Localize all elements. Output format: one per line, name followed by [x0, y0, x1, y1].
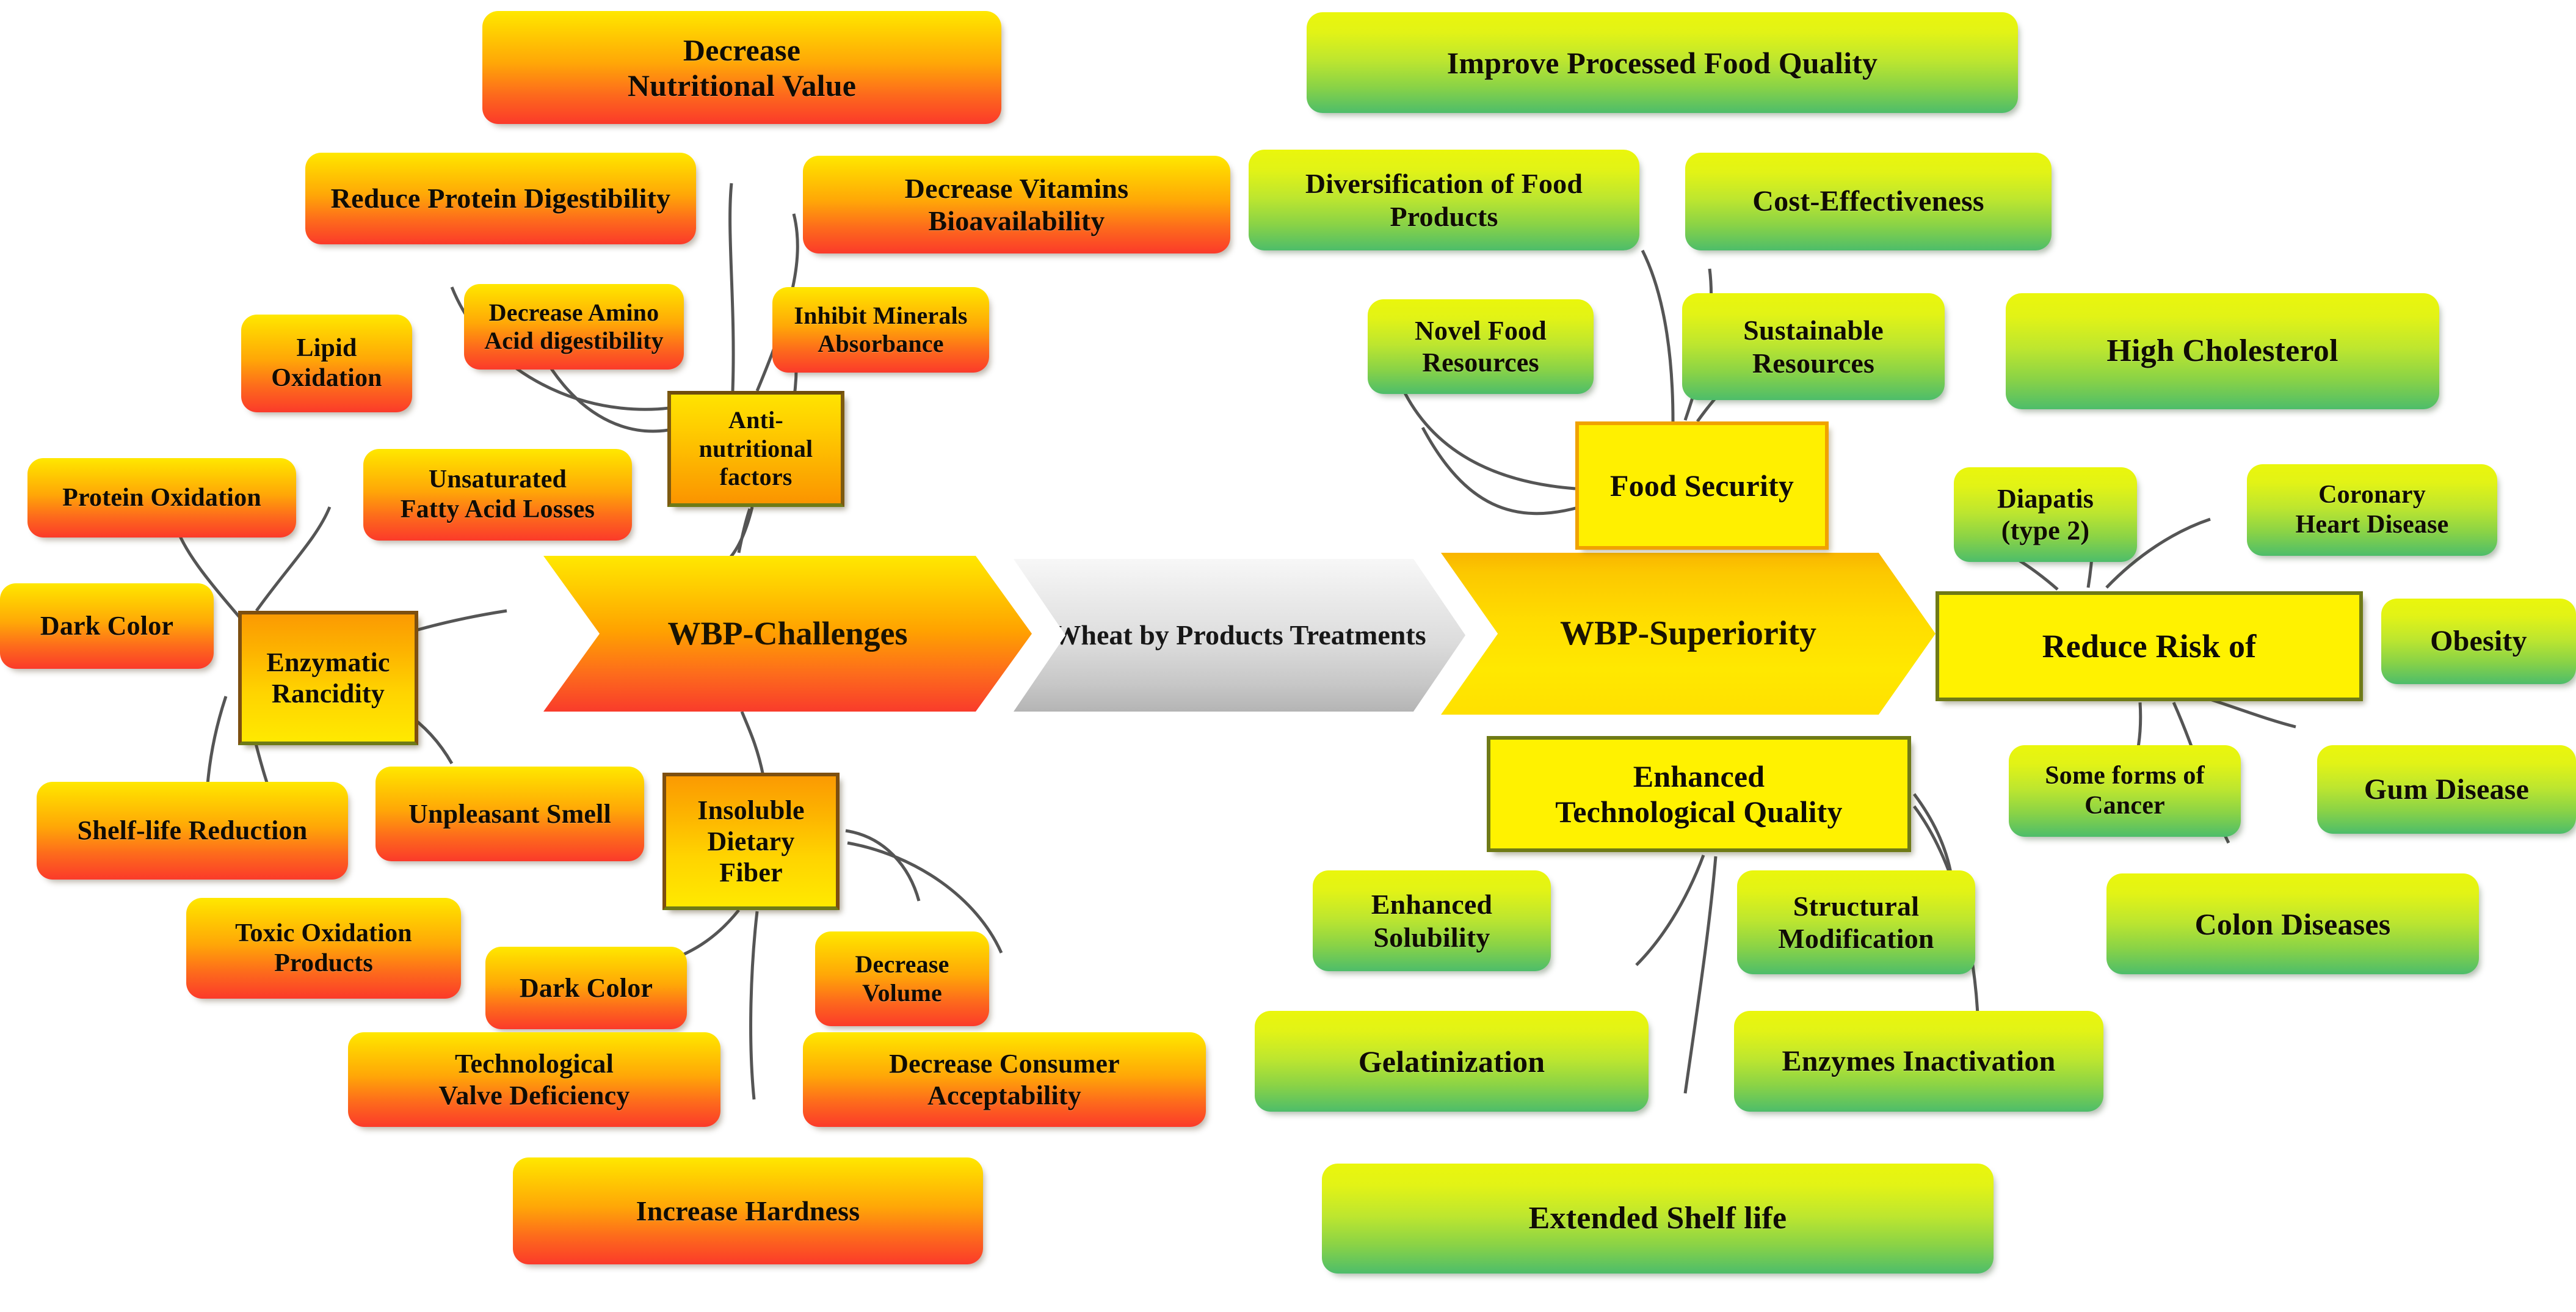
diagram-canvas: DecreaseNutritional Value Reduce Protein… [0, 0, 2576, 1312]
node-label: Decrease ConsumerAcceptability [811, 1048, 1197, 1110]
node-label: Dark Color [494, 972, 678, 1004]
node-label: Decrease VitaminsBioavailability [811, 172, 1222, 238]
node-label: DecreaseVolume [824, 950, 981, 1007]
hub-anti-nutritional-factors[interactable]: Anti-nutritionalfactors [667, 391, 844, 507]
node-label: Extended Shelf life [1330, 1200, 1985, 1237]
node-novel-food-resources[interactable]: Novel FoodResources [1368, 299, 1594, 394]
node-label: LipidOxidation [250, 333, 404, 393]
hub-label: Food Security [1587, 468, 1816, 503]
node-label: Some forms ofCancer [2017, 761, 2232, 820]
hub-label: Reduce Risk of [1948, 627, 2351, 666]
hub-reduce-risk-of[interactable]: Reduce Risk of [1936, 591, 2363, 701]
node-label: DecreaseNutritional Value [491, 32, 993, 103]
node-label: Diversification of FoodProducts [1257, 167, 1631, 233]
stage-label: WBP-Superiority [1441, 613, 1936, 654]
node-decrease-amino-acid-digestibility[interactable]: Decrease AminoAcid digestibility [464, 284, 684, 370]
node-label: Novel FoodResources [1376, 315, 1585, 377]
node-protein-oxidation[interactable]: Protein Oxidation [27, 458, 296, 538]
node-toxic-oxidation-products[interactable]: Toxic OxidationProducts [186, 898, 461, 999]
node-increase-hardness[interactable]: Increase Hardness [513, 1157, 983, 1264]
hub-enzymatic-rancidity[interactable]: EnzymaticRancidity [238, 611, 418, 745]
node-gum-disease[interactable]: Gum Disease [2317, 745, 2576, 834]
node-label: Gum Disease [2326, 773, 2567, 807]
node-technological-valve-deficiency[interactable]: TechnologicalValve Deficiency [348, 1032, 720, 1127]
node-diapatis-type-2[interactable]: Diapatis(type 2) [1954, 467, 2137, 562]
node-decrease-nutritional-value[interactable]: DecreaseNutritional Value [482, 11, 1001, 124]
node-label: Increase Hardness [521, 1195, 974, 1227]
node-some-forms-of-cancer[interactable]: Some forms ofCancer [2009, 745, 2241, 837]
hub-label: EnzymaticRancidity [250, 647, 406, 709]
node-enhanced-solubility[interactable]: EnhancedSolubility [1313, 870, 1551, 971]
node-decrease-vitamins-bioavailability[interactable]: Decrease VitaminsBioavailability [803, 156, 1230, 253]
node-label: Reduce Protein Digestibility [314, 182, 688, 214]
node-enzymes-inactivation[interactable]: Enzymes Inactivation [1734, 1011, 2103, 1112]
node-dark-color-left[interactable]: Dark Color [0, 583, 214, 669]
node-extended-shelf-life[interactable]: Extended Shelf life [1322, 1164, 1994, 1274]
node-label: Obesity [2390, 624, 2567, 658]
node-label: UnsaturatedFatty Acid Losses [372, 465, 623, 524]
node-label: TechnologicalValve Deficiency [357, 1048, 712, 1110]
node-decrease-consumer-acceptability[interactable]: Decrease ConsumerAcceptability [803, 1032, 1206, 1127]
node-inhibit-minerals-absorbance[interactable]: Inhibit MineralsAbsorbance [772, 287, 989, 373]
node-label: Enzymes Inactivation [1743, 1044, 2095, 1079]
node-label: Toxic OxidationProducts [195, 919, 452, 978]
node-dark-color-fiber[interactable]: Dark Color [485, 947, 687, 1029]
stage-wbp-superiority[interactable]: WBP-Superiority [1441, 553, 1936, 715]
node-label: Inhibit MineralsAbsorbance [781, 302, 981, 359]
node-structural-modification[interactable]: StructuralModification [1737, 870, 1975, 974]
node-coronary-heart-disease[interactable]: CoronaryHeart Disease [2247, 464, 2497, 556]
hub-insoluble-dietary-fiber[interactable]: InsolubleDietaryFiber [662, 773, 840, 910]
node-label: SustainableResources [1691, 314, 1936, 379]
node-label: CoronaryHeart Disease [2255, 480, 2489, 539]
node-label: Cost-Effectiveness [1694, 184, 2043, 219]
stage-wbp-challenges[interactable]: WBP-Challenges [543, 556, 1032, 712]
node-label: EnhancedSolubility [1321, 888, 1542, 953]
node-improve-processed-food-quality[interactable]: Improve Processed Food Quality [1307, 12, 2018, 113]
node-unsaturated-fatty-acid-losses[interactable]: UnsaturatedFatty Acid Losses [363, 449, 632, 541]
node-lipid-oxidation[interactable]: LipidOxidation [241, 315, 412, 412]
node-high-cholesterol[interactable]: High Cholesterol [2006, 293, 2439, 409]
hub-label: InsolubleDietaryFiber [675, 795, 827, 888]
node-label: Shelf-life Reduction [45, 815, 339, 846]
node-gelatinization[interactable]: Gelatinization [1255, 1011, 1649, 1112]
node-label: High Cholesterol [2014, 333, 2431, 370]
hub-enhanced-technological-quality[interactable]: EnhancedTechnological Quality [1487, 736, 1911, 852]
node-diversification-of-food-products[interactable]: Diversification of FoodProducts [1249, 150, 1639, 250]
node-label: Improve Processed Food Quality [1315, 45, 2009, 81]
hub-label: EnhancedTechnological Quality [1499, 759, 1899, 829]
node-label: Diapatis(type 2) [1962, 483, 2128, 545]
node-obesity[interactable]: Obesity [2381, 599, 2576, 684]
node-label: Gelatinization [1263, 1044, 1640, 1079]
node-sustainable-resources[interactable]: SustainableResources [1682, 293, 1945, 400]
node-colon-diseases[interactable]: Colon Diseases [2106, 873, 2479, 974]
node-decrease-volume[interactable]: DecreaseVolume [815, 931, 989, 1026]
node-label: Dark Color [9, 610, 205, 641]
node-reduce-protein-digestibility[interactable]: Reduce Protein Digestibility [305, 153, 696, 244]
hub-label: Anti-nutritionalfactors [680, 406, 832, 491]
node-cost-effectiveness[interactable]: Cost-Effectiveness [1685, 153, 2052, 250]
node-label: Protein Oxidation [36, 483, 288, 513]
node-label: Decrease AminoAcid digestibility [473, 299, 675, 355]
stage-label: WBP-Challenges [543, 614, 1032, 654]
node-label: Unpleasant Smell [384, 798, 636, 829]
stage-label: Wheat by Products Treatments [1014, 618, 1465, 652]
hub-food-security[interactable]: Food Security [1575, 421, 1829, 550]
stage-wheat-by-products-treatments[interactable]: Wheat by Products Treatments [1014, 559, 1465, 712]
node-shelf-life-reduction[interactable]: Shelf-life Reduction [37, 782, 348, 880]
node-label: Colon Diseases [2115, 906, 2470, 942]
node-label: StructuralModification [1746, 890, 1967, 955]
node-unpleasant-smell[interactable]: Unpleasant Smell [376, 767, 644, 861]
